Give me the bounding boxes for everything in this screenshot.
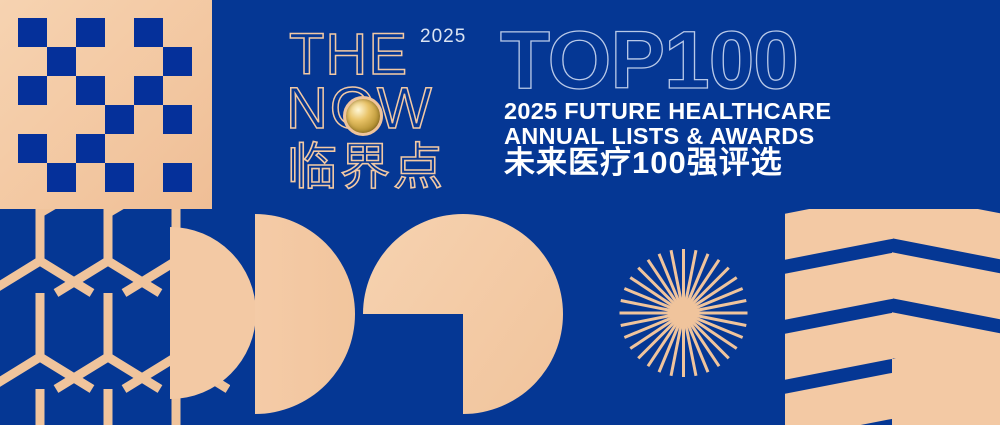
headline-subtitle-cn: 未来医疗100强评选 <box>504 146 783 180</box>
checkerboard-pattern <box>18 18 193 193</box>
checkerboard-cell <box>76 18 105 47</box>
stripe-column-left <box>785 209 893 425</box>
notched-circle-cutout <box>363 314 463 425</box>
headline-subtitle-en: 2025 FUTURE HEALTHCARE ANNUAL LISTS & AW… <box>504 99 831 149</box>
checkerboard-cell <box>18 18 47 47</box>
headline-top100: TOP100 <box>500 20 798 102</box>
sunburst-pattern <box>588 218 778 408</box>
subtitle-en-line-1: 2025 FUTURE HEALTHCARE <box>504 99 831 124</box>
checkerboard-cell <box>47 47 76 76</box>
checkerboard-cell <box>105 105 134 134</box>
checkerboard-cell <box>47 163 76 192</box>
checkerboard-block <box>0 0 212 209</box>
checkerboard-cell <box>18 134 47 163</box>
logo-chinese-name: 临界点 <box>287 140 446 194</box>
checkerboard-cell <box>18 76 47 105</box>
checkerboard-cell <box>163 47 192 76</box>
checkerboard-cell <box>76 134 105 163</box>
checkerboard-cell <box>134 76 163 105</box>
half-circle-small <box>170 227 256 399</box>
logo-year-text: 2025 <box>420 26 466 48</box>
checkerboard-cell <box>76 76 105 105</box>
logo-lockup: THE 2025 NOW 临界点 <box>285 18 490 190</box>
banner-root: THE 2025 NOW 临界点 TOP100 2025 FUTURE HEAL… <box>0 0 1000 425</box>
checkerboard-cell <box>105 163 134 192</box>
checkerboard-cell <box>163 163 192 192</box>
decoration-band <box>0 209 1000 425</box>
half-circle-large <box>255 214 355 414</box>
corner-fill-block <box>892 359 1000 425</box>
checkerboard-cell <box>163 105 192 134</box>
checkerboard-cell <box>134 18 163 47</box>
gold-sphere-icon <box>343 96 383 136</box>
